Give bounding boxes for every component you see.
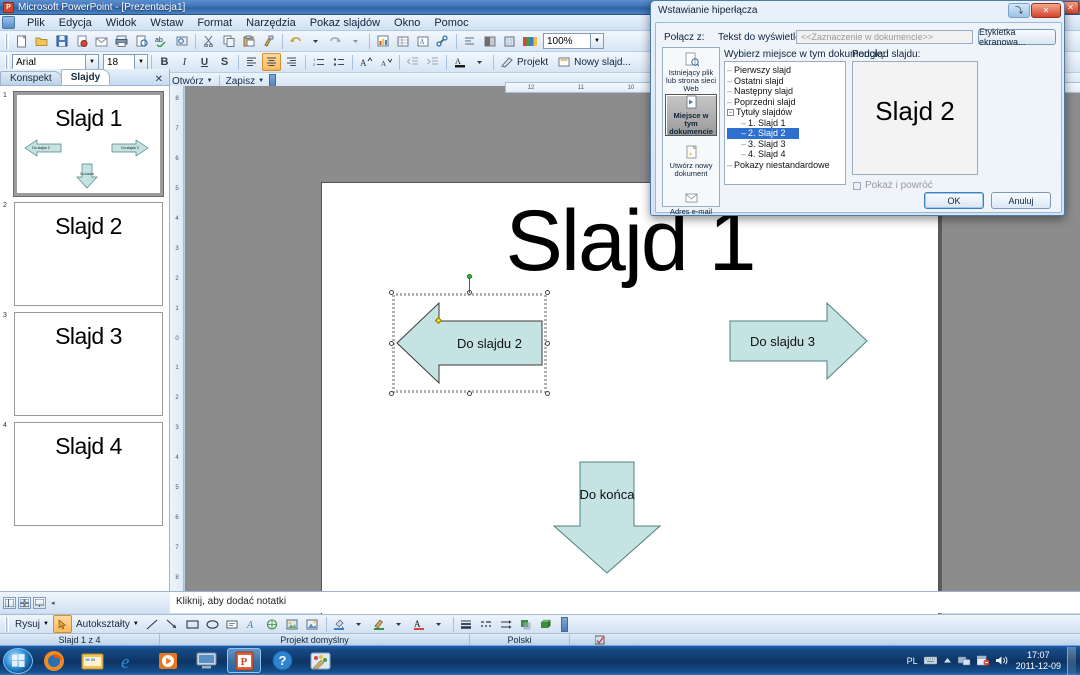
- status-slide-counter: Slajd 1 z 4: [0, 634, 160, 646]
- link-to-label: Połącz z:: [664, 32, 705, 43]
- toolbar-separator: [326, 617, 327, 632]
- tree-item-label: Pokazy niestandardowe: [734, 160, 830, 170]
- status-design: Projekt domyślny: [160, 634, 470, 646]
- security-icon[interactable]: [977, 655, 989, 666]
- draw-dropdown-icon[interactable]: ▼: [43, 621, 49, 627]
- vruler-tick: 8: [175, 575, 178, 581]
- resize-handle-sw[interactable]: [389, 391, 394, 396]
- windows-taskbar: e P ? PL 17:07 2011-12-09: [0, 645, 1080, 675]
- place-tree[interactable]: – Pierwszy slajd – Ostatni slajd – Nastę…: [724, 61, 846, 185]
- cut-icon[interactable]: [199, 32, 218, 50]
- menu-item-widok[interactable]: Widok: [99, 16, 144, 30]
- tree-item-label: Poprzedni slajd: [734, 97, 796, 107]
- show-and-return-checkbox[interactable]: [853, 182, 861, 190]
- toolbar-grip[interactable]: [5, 55, 9, 70]
- vruler-tick: 7: [175, 126, 178, 132]
- svg-text:A: A: [246, 620, 254, 630]
- thumbnail-title: Slajd 1: [17, 105, 160, 132]
- svg-text:Do końca: Do końca: [80, 172, 94, 176]
- resize-handle-s[interactable]: [467, 391, 472, 396]
- svg-text:A: A: [455, 57, 461, 66]
- vruler-tick: 2: [175, 276, 178, 282]
- print-icon[interactable]: [112, 32, 131, 50]
- slides-pane: Konspekt Slajdy ✕ 1 Slajd 1 Do slajdu 2: [0, 69, 170, 591]
- thumbnail-slide-1[interactable]: 1 Slajd 1 Do slajdu 2 Do slajdu 3 Do koń…: [14, 92, 163, 196]
- vruler-tick: 3: [175, 246, 178, 252]
- select-icon[interactable]: [53, 615, 72, 633]
- pane-tabs: Konspekt Slajdy ✕: [0, 69, 169, 86]
- research-icon[interactable]: [172, 32, 191, 50]
- email-icon[interactable]: [92, 32, 111, 50]
- tree-branch-icon: –: [727, 65, 732, 75]
- vruler-tick: 7: [175, 545, 178, 551]
- decrease-indent-icon[interactable]: [403, 53, 422, 71]
- thumbnail-slide-3[interactable]: 3 Slajd 3: [14, 312, 163, 416]
- toolbar-separator: [493, 55, 494, 70]
- toolbar-grip[interactable]: [5, 617, 9, 632]
- font-color-icon[interactable]: A: [450, 53, 469, 71]
- taskbar-powerpoint[interactable]: P: [227, 648, 261, 673]
- permission-icon[interactable]: [72, 32, 91, 50]
- dialog-help-button[interactable]: ⤵: [1008, 3, 1030, 18]
- shape-label: Do slajdu 3: [727, 295, 872, 387]
- vruler-tick: 8: [175, 96, 178, 102]
- dialog-window-controls: ⤵ ✕: [1007, 3, 1064, 18]
- svg-text:?: ?: [278, 653, 286, 668]
- office-live-open-button[interactable]: Otwórz: [172, 76, 204, 87]
- tree-item-custom-shows[interactable]: – Pokazy niestandardowe: [727, 160, 845, 171]
- tray-language[interactable]: PL: [907, 656, 918, 666]
- resize-handle-w[interactable]: [389, 341, 394, 346]
- new-slide-icon[interactable]: [554, 53, 573, 71]
- ok-button[interactable]: OK: [924, 192, 984, 209]
- increase-indent-icon[interactable]: [423, 53, 442, 71]
- tree-branch-icon: –: [727, 76, 732, 86]
- slide-preview-label: Podgląd slajdu:: [852, 49, 920, 60]
- sidebar-label: Istniejący plik lub strona sieci Web: [665, 69, 717, 93]
- status-language: Polski: [470, 634, 570, 646]
- zoom-input[interactable]: 100%: [543, 33, 591, 49]
- toolbar-separator: [352, 55, 353, 70]
- arrow-down-to-end[interactable]: Do końca: [542, 458, 672, 578]
- tree-branch-icon: –: [741, 149, 746, 159]
- drawing-toolbar-overflow-button[interactable]: [561, 617, 568, 632]
- network-icon[interactable]: [958, 655, 971, 666]
- underline-button[interactable]: U: [195, 53, 214, 71]
- redo-dropdown-icon[interactable]: [346, 32, 365, 50]
- slide-preview-title: Slajd 2: [853, 96, 977, 127]
- arrow-left-to-slide-2[interactable]: Do slajdu 2: [392, 293, 547, 393]
- svg-text:A: A: [381, 60, 386, 68]
- slide-preview-box: Slajd 2: [852, 61, 978, 175]
- volume-icon[interactable]: [995, 655, 1008, 666]
- insert-hyperlink-icon[interactable]: [433, 32, 452, 50]
- fill-color-dropdown-icon[interactable]: [350, 615, 369, 633]
- vruler-tick: 5: [175, 485, 178, 491]
- numbered-list-icon[interactable]: 12: [309, 53, 328, 71]
- toolbar-separator: [369, 34, 370, 49]
- decrease-font-icon[interactable]: A: [376, 53, 395, 71]
- svg-text:Do slajdu 2: Do slajdu 2: [32, 146, 50, 150]
- thumbnail-slide-2[interactable]: 2 Slajd 2: [14, 202, 163, 306]
- menu-item-format[interactable]: Format: [190, 16, 239, 30]
- toolbar-separator: [399, 55, 400, 70]
- thumbnail-frame: Slajd 3: [14, 312, 163, 416]
- menu-item-okno[interactable]: Okno: [387, 16, 427, 30]
- tree-item-label: Pierwszy slajd: [734, 65, 791, 75]
- notes-resize-grip[interactable]: ◂: [51, 599, 55, 607]
- drawing-toolbar: Rysuj ▼ Autokształty ▼ A A: [0, 614, 1080, 633]
- svg-text:2: 2: [313, 62, 316, 67]
- save-icon[interactable]: [52, 32, 71, 50]
- toolbar-separator: [456, 34, 457, 49]
- thumbnail-number: 1: [3, 92, 7, 99]
- tree-item-label: 2. Slajd 2: [748, 128, 786, 138]
- tree-branch-icon: –: [727, 86, 732, 96]
- textbox-icon[interactable]: [223, 615, 242, 633]
- menu-item-wstaw[interactable]: Wstaw: [143, 16, 190, 30]
- normal-view-button[interactable]: [3, 597, 16, 609]
- shadow-button[interactable]: S: [215, 53, 234, 71]
- font-size-dropdown-icon[interactable]: ▼: [135, 54, 148, 70]
- autoshapes-dropdown-icon[interactable]: ▼: [133, 621, 139, 627]
- oval-icon[interactable]: [203, 615, 222, 633]
- font-color-icon[interactable]: A: [410, 615, 429, 633]
- hruler-tick: 12: [528, 85, 535, 91]
- hruler-tick: 10: [628, 85, 635, 91]
- copy-icon[interactable]: [219, 32, 238, 50]
- save-dropdown-icon[interactable]: ▼: [258, 78, 264, 84]
- existing-file-icon: [684, 52, 699, 67]
- taskbar-media-player[interactable]: [151, 648, 185, 673]
- menu-item-pokaz-slajdow[interactable]: Pokaz slajdów: [303, 16, 387, 30]
- taskbar-clock[interactable]: 17:07 2011-12-09: [1016, 650, 1061, 672]
- insert-table-icon[interactable]: [393, 32, 412, 50]
- clipart-icon[interactable]: [283, 615, 302, 633]
- tree-item-label: Tytuły slajdów: [736, 107, 792, 117]
- screentip-button[interactable]: Etykietka ekranowa...: [978, 29, 1056, 45]
- svg-text:A: A: [414, 619, 421, 629]
- vruler-tick: 0: [175, 336, 178, 342]
- draw-menu-button[interactable]: Rysuj: [15, 619, 40, 630]
- clock-date: 2011-12-09: [1016, 661, 1061, 672]
- status-bar: Slajd 1 z 4 Projekt domyślny Polski: [0, 633, 1080, 645]
- resize-handle-se[interactable]: [545, 391, 550, 396]
- design-button[interactable]: Projekt: [517, 57, 548, 68]
- taskbar-paint[interactable]: [303, 648, 337, 673]
- svg-text:A: A: [419, 38, 424, 46]
- sidebar-new-document[interactable]: Utwórz nowy dokument: [665, 140, 717, 182]
- show-and-return-row[interactable]: Pokaż i powróć: [853, 180, 933, 191]
- show-and-return-label: Pokaż i powróć: [865, 180, 933, 191]
- sidebar-existing-file[interactable]: Istniejący plik lub strona sieci Web: [665, 51, 717, 93]
- tree-item-slide-1[interactable]: – 1. Slajd 1: [727, 118, 845, 129]
- svg-text:Do slajdu 3: Do slajdu 3: [121, 146, 139, 150]
- sidebar-label: Adres e-mail: [670, 208, 712, 216]
- align-right-icon[interactable]: [282, 53, 301, 71]
- fill-color-icon[interactable]: [330, 615, 349, 633]
- display-text-input[interactable]: <<Zaznaczenie w dokumencie>>: [796, 30, 973, 44]
- rotation-handle[interactable]: [467, 274, 472, 279]
- line-style-icon[interactable]: [457, 615, 476, 633]
- tree-item-label: Następny slajd: [734, 86, 793, 96]
- tree-item-last-slide[interactable]: – Ostatni slajd: [727, 76, 845, 87]
- toolbar-separator: [282, 34, 283, 49]
- show-hidden-icons-icon[interactable]: [943, 657, 952, 664]
- thumbnail-number: 3: [3, 312, 7, 319]
- diagram-icon[interactable]: [263, 615, 282, 633]
- tree-item-slide-titles[interactable]: − Tytuły slajdów: [727, 107, 845, 118]
- thumbnail-number: 4: [3, 422, 7, 429]
- new-icon[interactable]: [12, 32, 31, 50]
- wordart-icon[interactable]: A: [243, 615, 262, 633]
- format-painter-icon[interactable]: [259, 32, 278, 50]
- vruler-tick: 2: [175, 395, 178, 401]
- show-formatting-icon[interactable]: [460, 32, 479, 50]
- slide-show-button[interactable]: [33, 597, 46, 609]
- font-name-dropdown-icon[interactable]: ▼: [86, 54, 99, 70]
- insert-chart-icon[interactable]: [373, 32, 392, 50]
- shape-label: Do slajdu 2: [392, 293, 547, 393]
- toolbar-separator: [151, 55, 152, 70]
- color-icon[interactable]: [520, 32, 539, 50]
- spellcheck-icon[interactable]: [570, 634, 630, 646]
- cancel-button[interactable]: Anuluj: [991, 192, 1051, 209]
- toolbar-separator: [453, 617, 454, 632]
- tree-branch-icon: –: [741, 118, 746, 128]
- tree-branch-icon: –: [727, 160, 732, 170]
- taskbar-computer[interactable]: [189, 648, 223, 673]
- vruler-tick: 5: [175, 186, 178, 192]
- undo-dropdown-icon[interactable]: [306, 32, 325, 50]
- notes-pane[interactable]: Kliknij, aby dodać notatki: [170, 591, 1080, 613]
- bulleted-list-icon[interactable]: [329, 53, 348, 71]
- align-left-icon[interactable]: [242, 53, 261, 71]
- tab-konspekt[interactable]: Konspekt: [0, 71, 62, 85]
- thumbnail-frame: Slajd 4: [14, 422, 163, 526]
- powerpoint-icon: P: [3, 2, 14, 13]
- vruler-tick: 1: [175, 365, 178, 371]
- tab-slajdy[interactable]: Slajdy: [61, 69, 110, 85]
- dialog-body: Połącz z: Tekst do wyświetlenia: <<Zazna…: [655, 22, 1062, 213]
- redo-icon[interactable]: [326, 32, 345, 50]
- tree-item-label: Ostatni slajd: [734, 76, 784, 86]
- shadow-style-icon[interactable]: [517, 615, 536, 633]
- toolbar-separator: [238, 55, 239, 70]
- svg-text:P: P: [240, 656, 247, 668]
- document-control-icon[interactable]: [2, 16, 15, 29]
- vruler-tick: 4: [175, 216, 178, 222]
- new-document-icon: [684, 145, 699, 160]
- 3d-style-icon[interactable]: [537, 615, 556, 633]
- arrow-icon[interactable]: [163, 615, 182, 633]
- taskbar-help[interactable]: ?: [265, 648, 299, 673]
- tree-item-label: 3. Slajd 3: [748, 139, 786, 149]
- tree-item-slide-4[interactable]: – 4. Slajd 4: [727, 149, 845, 160]
- window-title: Microsoft PowerPoint - [Prezentacja1]: [18, 2, 185, 13]
- spelling-icon[interactable]: ab: [152, 32, 171, 50]
- tree-item-next-slide[interactable]: – Następny slajd: [727, 86, 845, 97]
- close-pane-button[interactable]: ✕: [155, 74, 163, 85]
- grayscale-icon[interactable]: [480, 32, 499, 50]
- tree-item-previous-slide[interactable]: – Poprzedni slajd: [727, 97, 845, 108]
- svg-text:e: e: [121, 652, 129, 672]
- tree-branch-icon: –: [741, 139, 746, 149]
- thumbnail-frame: Slajd 1 Do slajdu 2 Do slajdu 3 Do końca: [14, 92, 163, 196]
- italic-button[interactable]: I: [175, 53, 194, 71]
- toolbar-separator: [446, 55, 447, 70]
- vruler-tick: 6: [175, 156, 178, 162]
- toolbar-separator: [305, 55, 306, 70]
- slide-thumbnails-list[interactable]: 1 Slajd 1 Do slajdu 2 Do slajdu 3 Do koń…: [0, 86, 169, 591]
- resize-handle-ne[interactable]: [545, 290, 550, 295]
- tree-item-label: 1. Slajd 1: [748, 118, 786, 128]
- align-center-icon[interactable]: [262, 53, 281, 71]
- thumbnail-title: Slajd 2: [15, 213, 162, 240]
- tree-item-label: 4. Slajd 4: [748, 149, 786, 159]
- menu-item-edycja[interactable]: Edycja: [52, 16, 99, 30]
- undo-icon[interactable]: [286, 32, 305, 50]
- tree-item-slide-3[interactable]: – 3. Slajd 3: [727, 139, 845, 150]
- keyboard-icon[interactable]: [924, 656, 937, 665]
- svg-text:ab: ab: [155, 37, 163, 44]
- menu-item-pomoc[interactable]: Pomoc: [427, 16, 475, 30]
- office-live-save-button[interactable]: Zapisz: [226, 76, 255, 87]
- show-desktop-button[interactable]: [1067, 647, 1076, 675]
- dialog-title-bar: Wstawianie hiperłącza ⤵ ✕: [651, 1, 1064, 20]
- font-size-input[interactable]: 18: [103, 54, 135, 70]
- tree-item-first-slide[interactable]: – Pierwszy slajd: [727, 65, 845, 76]
- tree-branch-icon: –: [727, 97, 732, 107]
- new-slide-button[interactable]: Nowy slajd...: [574, 57, 631, 68]
- vruler-tick: 1: [175, 306, 178, 312]
- thumbnail-shapes: Do slajdu 2 Do slajdu 3 Do końca: [17, 133, 158, 193]
- menu-item-plik[interactable]: Plik: [20, 16, 52, 30]
- toolbar-grip[interactable]: [5, 34, 9, 49]
- toolbar-separator: [195, 34, 196, 49]
- sidebar-email-address[interactable]: Adres e-mail: [665, 182, 717, 224]
- vertical-ruler[interactable]: 8 7 6 5 4 3 2 1 0 1 2 3 4 5 6 7 8: [170, 86, 184, 591]
- print-preview-icon[interactable]: [132, 32, 151, 50]
- taskbar-explorer[interactable]: [75, 648, 109, 673]
- grid-icon[interactable]: [500, 32, 519, 50]
- vruler-tick: 4: [175, 455, 178, 461]
- font-name-input[interactable]: Arial: [12, 54, 86, 70]
- line-color-icon[interactable]: [370, 615, 389, 633]
- thumbnail-frame: Slajd 2: [14, 202, 163, 306]
- clock-time: 17:07: [1016, 650, 1061, 661]
- paste-icon[interactable]: [239, 32, 258, 50]
- dialog-sidebar: Istniejący plik lub strona sieci Web Mie…: [662, 47, 720, 207]
- start-button[interactable]: [3, 648, 33, 674]
- line-icon[interactable]: [143, 615, 162, 633]
- insert-hyperlink-dialog[interactable]: Wstawianie hiperłącza ⤵ ✕ Połącz z: Teks…: [650, 0, 1065, 216]
- font-color-dropdown-icon[interactable]: [430, 615, 449, 633]
- vruler-tick: 6: [175, 515, 178, 521]
- autoshapes-menu-button[interactable]: Autokształty: [76, 619, 130, 630]
- rectangle-icon[interactable]: [183, 615, 202, 633]
- sidebar-place-in-document[interactable]: Miejsce w tym dokumencie: [665, 94, 717, 136]
- tree-item-slide-2[interactable]: – 2. Slajd 2: [727, 128, 799, 139]
- resize-handle-nw[interactable]: [389, 290, 394, 295]
- picture-icon[interactable]: [303, 615, 322, 633]
- thumbnail-title: Slajd 3: [15, 323, 162, 350]
- dash-style-icon[interactable]: [477, 615, 496, 633]
- tree-branch-icon: –: [741, 128, 746, 138]
- dialog-close-button[interactable]: ✕: [1031, 3, 1061, 18]
- zoom-dropdown-icon[interactable]: ▼: [591, 33, 604, 49]
- resize-handle-e[interactable]: [545, 341, 550, 346]
- design-icon[interactable]: [497, 53, 516, 71]
- taskbar-internet-explorer[interactable]: e: [113, 648, 147, 673]
- open-icon[interactable]: [32, 32, 51, 50]
- font-color-dropdown-icon[interactable]: [470, 53, 489, 71]
- thumbnail-title: Slajd 4: [15, 433, 162, 460]
- slide-sorter-view-button[interactable]: [18, 597, 31, 609]
- arrow-right-to-slide-3[interactable]: Do slajdu 3: [727, 295, 872, 387]
- svg-text:A: A: [360, 58, 367, 68]
- insert-wordart-icon[interactable]: A: [413, 32, 432, 50]
- vruler-tick: 3: [175, 425, 178, 431]
- increase-font-icon[interactable]: A: [356, 53, 375, 71]
- hruler-tick: 11: [578, 85, 584, 91]
- tree-collapse-icon[interactable]: −: [727, 109, 734, 116]
- place-in-document-icon: [684, 95, 699, 110]
- thumbnail-slide-4[interactable]: 4 Slajd 4: [14, 422, 163, 526]
- taskbar-firefox[interactable]: [37, 648, 71, 673]
- view-buttons-bar: ◂: [0, 591, 170, 613]
- thumbnail-number: 2: [3, 202, 7, 209]
- slide-editing-area[interactable]: Slajd 1 Do slajdu 2: [321, 182, 939, 659]
- sidebar-label: Utwórz nowy dokument: [665, 162, 717, 178]
- sidebar-label: Miejsce w tym dokumencie: [666, 112, 716, 136]
- shape-label: Do końca: [542, 458, 672, 578]
- line-color-dropdown-icon[interactable]: [390, 615, 409, 633]
- open-dropdown-icon[interactable]: ▼: [207, 78, 213, 84]
- rotation-line: [469, 279, 470, 293]
- arrow-style-icon[interactable]: [497, 615, 516, 633]
- system-tray: PL 17:07 2011-12-09: [904, 647, 1080, 675]
- dialog-title: Wstawianie hiperłącza: [658, 5, 758, 16]
- menu-item-narzedzia[interactable]: Narzędzia: [239, 16, 303, 30]
- email-address-icon: [684, 191, 699, 206]
